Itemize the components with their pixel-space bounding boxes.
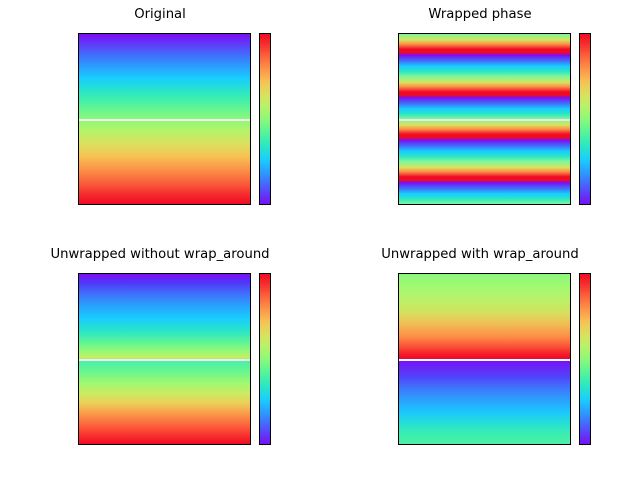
xtick-mark xyxy=(165,204,166,205)
xtick-mark xyxy=(165,444,166,445)
heatmap-unwrapped-without-wrap-around: 0 20 40 60 80 0 25 50 75 xyxy=(78,273,251,445)
ytick-mark xyxy=(398,171,399,172)
colorbar-tick-mark xyxy=(590,386,591,387)
ytick-mark xyxy=(398,68,399,69)
ytick-mark xyxy=(78,34,79,35)
ytick-mark xyxy=(398,34,399,35)
seam-line-wrapped-phase xyxy=(399,119,570,121)
colorbar-gradient-unwrapped-with-wrap-around xyxy=(580,274,590,444)
colorbar-tick-mark xyxy=(590,352,591,353)
xtick-mark xyxy=(399,444,400,445)
heatmap-original: 0 20 40 60 80 0 25 50 75 xyxy=(78,33,251,205)
ytick-mark xyxy=(78,274,79,275)
colorbar-tick-mark xyxy=(270,68,271,69)
colorbar-gradient-unwrapped-without-wrap-around xyxy=(260,274,270,444)
xtick-mark xyxy=(528,204,529,205)
seam-line-original xyxy=(79,119,250,121)
colorbar-tick-mark xyxy=(270,428,271,429)
ytick-mark xyxy=(78,137,79,138)
ytick-mark xyxy=(398,411,399,412)
colorbar-tick-mark xyxy=(270,384,271,385)
colorbar-gradient-wrapped-phase xyxy=(580,34,590,204)
ytick-mark xyxy=(398,103,399,104)
xtick-mark xyxy=(208,204,209,205)
seam-line-unwrapped-with-wrap-around xyxy=(399,359,570,361)
ytick-mark xyxy=(398,343,399,344)
ytick-mark xyxy=(78,377,79,378)
xtick-mark xyxy=(208,444,209,445)
heatmap-unwrapped-with-wrap-around: 0 20 40 60 80 0 25 50 75 xyxy=(398,273,571,445)
colorbar-tick-mark xyxy=(270,34,271,35)
xtick-mark xyxy=(122,204,123,205)
ytick-mark xyxy=(398,377,399,378)
xtick-mark xyxy=(79,204,80,205)
xtick-mark xyxy=(122,444,123,445)
xtick-mark xyxy=(528,444,529,445)
colorbar-tick-mark xyxy=(590,173,591,174)
ytick-mark xyxy=(398,137,399,138)
ytick-mark xyxy=(398,308,399,309)
xtick-mark xyxy=(399,204,400,205)
subplot-original: Original 0 20 40 60 80 0 25 50 75 xyxy=(0,8,320,240)
xtick-mark xyxy=(79,444,80,445)
xtick-mark xyxy=(442,204,443,205)
subplot-unwrapped-with-wrap-around: Unwrapped with wrap_around 0 20 40 60 80… xyxy=(320,248,640,480)
figure-canvas: Original 0 20 40 60 80 0 25 50 75 xyxy=(0,0,640,480)
xtick-mark xyxy=(485,204,486,205)
subplot-title-unwrapped-without-wrap-around: Unwrapped without wrap_around xyxy=(0,248,320,261)
subplot-title-original: Original xyxy=(0,8,320,21)
colorbar-tick-mark xyxy=(590,317,591,318)
colorbar-tick-mark xyxy=(590,420,591,421)
colorbar-tick-mark xyxy=(270,297,271,298)
colorbar-tick-mark xyxy=(270,170,271,171)
ytick-mark xyxy=(78,103,79,104)
colorbar-unwrapped-with-wrap-around: 5 0 −5 −10 −15 xyxy=(579,273,591,445)
subplot-title-unwrapped-with-wrap-around: Unwrapped with wrap_around xyxy=(320,248,640,261)
colorbar-tick-mark xyxy=(270,204,271,205)
colorbar-tick-mark xyxy=(270,136,271,137)
colorbar-tick-mark xyxy=(590,65,591,66)
colorbar-tick-mark xyxy=(270,102,271,103)
ytick-mark xyxy=(78,308,79,309)
colorbar-gradient-original xyxy=(260,34,270,204)
ytick-mark xyxy=(78,411,79,412)
ytick-mark xyxy=(78,68,79,69)
xtick-mark xyxy=(442,444,443,445)
ytick-mark xyxy=(78,171,79,172)
subplot-wrapped-phase: Wrapped phase 0 20 40 60 80 0 25 50 75 xyxy=(320,8,640,240)
subplot-unwrapped-without-wrap-around: Unwrapped without wrap_around 0 20 40 60… xyxy=(0,248,320,480)
heatmap-wrapped-phase: 0 20 40 60 80 0 25 50 75 xyxy=(398,33,571,205)
colorbar-unwrapped-without-wrap-around: 10 5 0 −5 xyxy=(259,273,271,445)
colorbar-tick-mark xyxy=(270,341,271,342)
ytick-mark xyxy=(398,274,399,275)
colorbar-tick-mark xyxy=(590,119,591,120)
colorbar-wrapped-phase: 2 0 −2 xyxy=(579,33,591,205)
xtick-mark xyxy=(485,444,486,445)
colorbar-tick-mark xyxy=(590,283,591,284)
colorbar-original: 25 20 15 10 5 0 xyxy=(259,33,271,205)
ytick-mark xyxy=(78,343,79,344)
seam-line-unwrapped-without-wrap-around xyxy=(79,359,250,361)
subplot-title-wrapped-phase: Wrapped phase xyxy=(320,8,640,21)
